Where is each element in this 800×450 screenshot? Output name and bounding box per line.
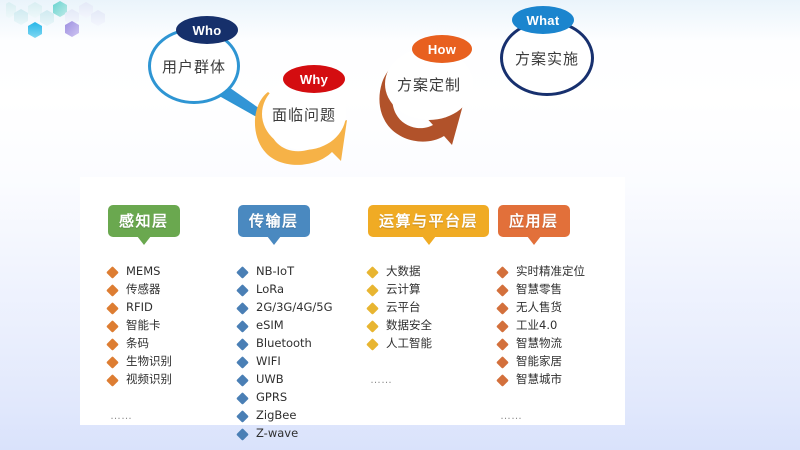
diamond-bullet-icon bbox=[496, 356, 509, 369]
list-item-label: WIFI bbox=[256, 356, 281, 368]
list-item-label: eSIM bbox=[256, 320, 284, 332]
list-item[interactable]: RFID bbox=[108, 299, 238, 317]
list-item[interactable]: 智慧物流 bbox=[498, 335, 628, 353]
list-item-label: GPRS bbox=[256, 392, 287, 404]
list-item[interactable]: 数据安全 bbox=[368, 317, 498, 335]
list-item-label: 智慧零售 bbox=[516, 284, 562, 296]
list-item[interactable]: eSIM bbox=[238, 317, 368, 335]
layer-item-list-2: NB-IoTLoRa2G/3G/4G/5GeSIMBluetoothWIFIUW… bbox=[238, 263, 368, 443]
diamond-bullet-icon bbox=[236, 284, 249, 297]
list-item[interactable]: 无人售货 bbox=[498, 299, 628, 317]
flow-badge-how: How bbox=[412, 35, 472, 63]
layer-header-2[interactable]: 传输层 bbox=[238, 205, 310, 237]
list-item[interactable]: NB-IoT bbox=[238, 263, 368, 281]
layer-column-2: 传输层NB-IoTLoRa2G/3G/4G/5GeSIMBluetoothWIF… bbox=[238, 205, 368, 443]
list-item-label: 智能卡 bbox=[126, 320, 161, 332]
layer-header-label: 传输层 bbox=[249, 212, 299, 230]
list-item-label: NB-IoT bbox=[256, 266, 294, 278]
diamond-bullet-icon bbox=[236, 392, 249, 405]
diamond-bullet-icon bbox=[366, 284, 379, 297]
layer-item-list-3: 大数据云计算云平台数据安全人工智能…… bbox=[368, 263, 498, 386]
layer-header-label: 应用层 bbox=[509, 212, 559, 230]
diamond-bullet-icon bbox=[106, 284, 119, 297]
layer-header-3[interactable]: 运算与平台层 bbox=[368, 205, 489, 237]
list-item-label: 条码 bbox=[126, 338, 149, 350]
list-item-label: 智慧城市 bbox=[516, 374, 562, 386]
flow-node-why-label: 面临问题 bbox=[272, 104, 336, 125]
layer-column-3: 运算与平台层大数据云计算云平台数据安全人工智能…… bbox=[368, 205, 498, 386]
list-item[interactable]: GPRS bbox=[238, 389, 368, 407]
list-item[interactable]: MEMS bbox=[108, 263, 238, 281]
list-item[interactable]: 智能家居 bbox=[498, 353, 628, 371]
flow-node-how[interactable]: 方案定制 How bbox=[385, 48, 473, 120]
diamond-bullet-icon bbox=[496, 284, 509, 297]
list-item[interactable]: 生物识别 bbox=[108, 353, 238, 371]
diamond-bullet-icon bbox=[106, 266, 119, 279]
list-item[interactable]: 云平台 bbox=[368, 299, 498, 317]
list-item[interactable]: 实时精准定位 bbox=[498, 263, 628, 281]
diamond-bullet-icon bbox=[366, 266, 379, 279]
flow-node-what[interactable]: 方案实施 What bbox=[500, 20, 594, 96]
list-item[interactable]: UWB bbox=[238, 371, 368, 389]
list-item-label: UWB bbox=[256, 374, 284, 386]
diamond-bullet-icon bbox=[106, 374, 119, 387]
diamond-bullet-icon bbox=[236, 356, 249, 369]
flow-badge-what: What bbox=[512, 6, 574, 34]
list-item-label: 传感器 bbox=[126, 284, 161, 296]
diamond-bullet-icon bbox=[496, 338, 509, 351]
process-flow-diagram: 用户群体 Who 面临问题 Why 方案定制 How 方案实施 What bbox=[0, 0, 800, 178]
list-item-label: 云计算 bbox=[386, 284, 421, 296]
layer-header-label: 感知层 bbox=[119, 212, 169, 230]
list-item[interactable]: 智能卡 bbox=[108, 317, 238, 335]
layer-header-label: 运算与平台层 bbox=[379, 212, 478, 230]
list-item[interactable]: ZigBee bbox=[238, 407, 368, 425]
diamond-bullet-icon bbox=[366, 338, 379, 351]
diamond-bullet-icon bbox=[236, 410, 249, 423]
layer-header-4[interactable]: 应用层 bbox=[498, 205, 570, 237]
list-item[interactable]: 大数据 bbox=[368, 263, 498, 281]
layer-columns: 感知层MEMS传感器RFID智能卡条码生物识别视频识别……传输层NB-IoTLo… bbox=[80, 177, 625, 425]
diamond-bullet-icon bbox=[106, 356, 119, 369]
diamond-bullet-icon bbox=[236, 338, 249, 351]
diamond-bullet-icon bbox=[236, 428, 249, 441]
flow-node-who-label: 用户群体 bbox=[162, 56, 226, 77]
layers-panel: 感知层MEMS传感器RFID智能卡条码生物识别视频识别……传输层NB-IoTLo… bbox=[80, 177, 625, 425]
list-item-label: 大数据 bbox=[386, 266, 421, 278]
list-item-label: 人工智能 bbox=[386, 338, 432, 350]
list-item[interactable]: 智慧城市 bbox=[498, 371, 628, 389]
list-item-label: 智慧物流 bbox=[516, 338, 562, 350]
list-item-label: 工业4.0 bbox=[516, 320, 557, 332]
list-item-label: 视频识别 bbox=[126, 374, 172, 386]
diamond-bullet-icon bbox=[496, 374, 509, 387]
diamond-bullet-icon bbox=[496, 266, 509, 279]
diamond-bullet-icon bbox=[106, 302, 119, 315]
list-item-label: 数据安全 bbox=[386, 320, 432, 332]
flow-badge-why: Why bbox=[283, 65, 345, 93]
diamond-bullet-icon bbox=[236, 320, 249, 333]
list-ellipsis: …… bbox=[110, 411, 238, 422]
list-item[interactable]: 视频识别 bbox=[108, 371, 238, 389]
diamond-bullet-icon bbox=[496, 302, 509, 315]
layer-column-4: 应用层实时精准定位智慧零售无人售货工业4.0智慧物流智能家居智慧城市…… bbox=[498, 205, 628, 422]
diamond-bullet-icon bbox=[106, 320, 119, 333]
list-item-label: 生物识别 bbox=[126, 356, 172, 368]
list-item-label: 云平台 bbox=[386, 302, 421, 314]
list-item[interactable]: 工业4.0 bbox=[498, 317, 628, 335]
list-item[interactable]: LoRa bbox=[238, 281, 368, 299]
list-ellipsis: …… bbox=[370, 375, 498, 386]
list-item[interactable]: WIFI bbox=[238, 353, 368, 371]
list-item[interactable]: 人工智能 bbox=[368, 335, 498, 353]
layer-item-list-1: MEMS传感器RFID智能卡条码生物识别视频识别…… bbox=[108, 263, 238, 422]
layer-header-1[interactable]: 感知层 bbox=[108, 205, 180, 237]
diamond-bullet-icon bbox=[236, 266, 249, 279]
list-item-label: 2G/3G/4G/5G bbox=[256, 302, 333, 314]
flow-node-who[interactable]: 用户群体 Who bbox=[148, 28, 240, 104]
flow-badge-who: Who bbox=[176, 16, 238, 44]
diamond-bullet-icon bbox=[106, 338, 119, 351]
layer-item-list-4: 实时精准定位智慧零售无人售货工业4.0智慧物流智能家居智慧城市…… bbox=[498, 263, 628, 422]
list-item[interactable]: 2G/3G/4G/5G bbox=[238, 299, 368, 317]
layer-column-1: 感知层MEMS传感器RFID智能卡条码生物识别视频识别…… bbox=[108, 205, 238, 422]
list-item-label: 智能家居 bbox=[516, 356, 562, 368]
diamond-bullet-icon bbox=[496, 320, 509, 333]
list-item-label: RFID bbox=[126, 302, 153, 314]
diamond-bullet-icon bbox=[236, 374, 249, 387]
list-item-label: LoRa bbox=[256, 284, 284, 296]
list-item-label: Bluetooth bbox=[256, 338, 312, 350]
list-item[interactable]: 云计算 bbox=[368, 281, 498, 299]
list-item-label: Z-wave bbox=[256, 428, 298, 440]
list-item-label: ZigBee bbox=[256, 410, 296, 422]
list-item[interactable]: 传感器 bbox=[108, 281, 238, 299]
list-item[interactable]: 智慧零售 bbox=[498, 281, 628, 299]
list-item-label: 无人售货 bbox=[516, 302, 562, 314]
list-item[interactable]: Bluetooth bbox=[238, 335, 368, 353]
list-item-label: MEMS bbox=[126, 266, 160, 278]
flow-node-why[interactable]: 面临问题 Why bbox=[262, 78, 346, 150]
list-item[interactable]: Z-wave bbox=[238, 425, 368, 443]
diamond-bullet-icon bbox=[366, 302, 379, 315]
flow-node-what-label: 方案实施 bbox=[515, 48, 579, 69]
flow-node-how-label: 方案定制 bbox=[397, 74, 461, 95]
diamond-bullet-icon bbox=[366, 320, 379, 333]
diamond-bullet-icon bbox=[236, 302, 249, 315]
list-item-label: 实时精准定位 bbox=[516, 266, 585, 278]
list-ellipsis: …… bbox=[500, 411, 628, 422]
list-item[interactable]: 条码 bbox=[108, 335, 238, 353]
